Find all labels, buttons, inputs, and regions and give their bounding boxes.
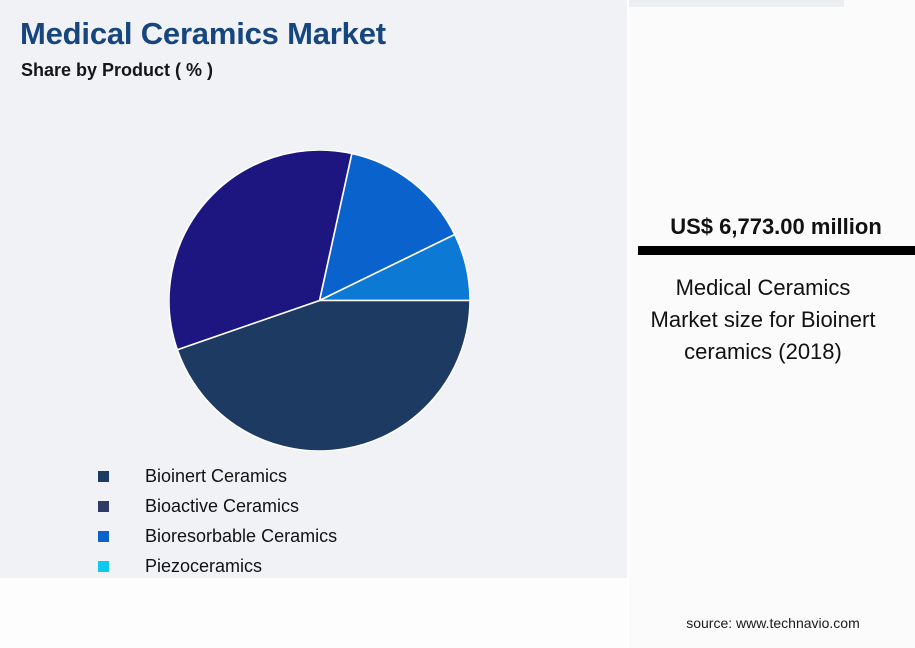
legend-swatch-icon (98, 471, 109, 482)
callout-underline (638, 246, 915, 255)
pie-chart (169, 150, 470, 451)
panel-top-cap (629, 0, 844, 7)
panel-divider (627, 0, 629, 648)
legend-item-label: Piezoceramics (145, 556, 262, 577)
chart-subtitle: Share by Product ( % ) (21, 60, 213, 81)
legend-item-bioinert-ceramics[interactable]: Bioinert Ceramics (98, 461, 578, 491)
chart-panel: Medical Ceramics Market Share by Product… (0, 0, 627, 648)
callout-description: Medical Ceramics Market size for Bioiner… (639, 272, 887, 368)
panel-bottom-strip (0, 578, 627, 648)
legend-item-label: Bioresorbable Ceramics (145, 526, 337, 547)
legend-item-bioactive-ceramics[interactable]: Bioactive Ceramics (98, 491, 578, 521)
page-title: Medical Ceramics Market (20, 16, 386, 52)
source-note: source: www.technavio.com (637, 615, 909, 631)
legend-item-label: Bioactive Ceramics (145, 496, 299, 517)
legend-swatch-icon (98, 561, 109, 572)
legend-item-piezoceramics[interactable]: Piezoceramics (98, 551, 578, 581)
legend-swatch-icon (98, 501, 109, 512)
legend-item-bioresorbable-ceramics[interactable]: Bioresorbable Ceramics (98, 521, 578, 551)
pie-chart-svg (169, 150, 470, 451)
legend-swatch-icon (98, 531, 109, 542)
legend-item-label: Bioinert Ceramics (145, 466, 287, 487)
chart-page: Medical Ceramics Market Share by Product… (0, 0, 915, 648)
chart-legend: Bioinert Ceramics Bioactive Ceramics Bio… (98, 461, 578, 581)
callout-value: US$ 6,773.00 million (637, 214, 915, 240)
